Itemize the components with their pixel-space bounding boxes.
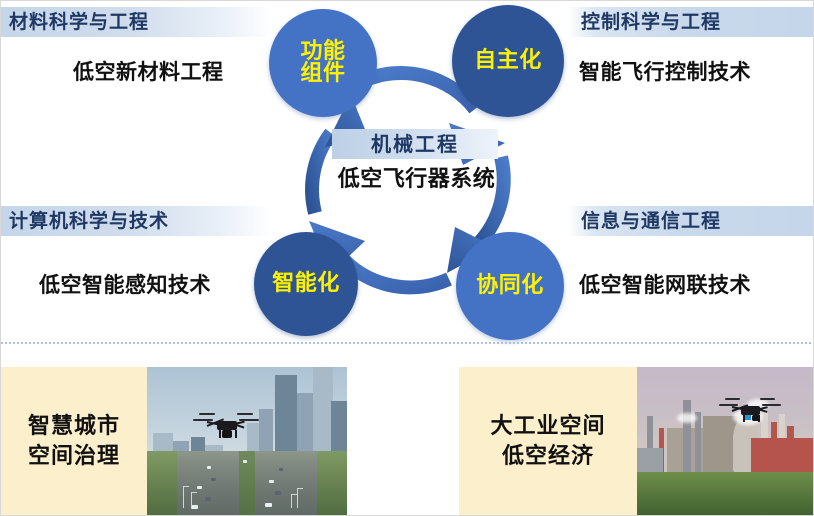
application-label-industrial-space: 大工业空间 低空经济 — [459, 367, 637, 516]
center-subject-label: 低空飞行器系统 — [319, 161, 514, 193]
discipline-wheel-area: 材料科学与工程 控制科学与工程 计算机科学与技术 信息与通信工程 低空新材料工程… — [1, 1, 814, 344]
discipline-band-control: 控制科学与工程 — [567, 7, 814, 37]
lobe-intelligence-label: 智能化 — [272, 273, 340, 295]
application-label-smart-city-line2: 空间治理 — [28, 442, 120, 472]
discipline-band-materials: 材料科学与工程 — [1, 7, 273, 37]
drone-icon-industrial — [719, 397, 781, 425]
discipline-band-comms: 信息与通信工程 — [567, 206, 814, 236]
application-label-smart-city: 智慧城市 空间治理 — [1, 367, 147, 516]
technology-label-materials: 低空新材料工程 — [73, 56, 224, 86]
application-card-industrial-space[interactable]: 大工业空间 低空经济 — [459, 367, 814, 516]
lobe-collaboration-label: 协同化 — [476, 275, 544, 297]
technology-label-computer: 低空智能感知技术 — [39, 269, 211, 299]
lobe-function-component[interactable]: 功能 组件 — [269, 9, 377, 117]
discipline-band-computer: 计算机科学与技术 — [1, 206, 273, 236]
application-label-industrial-space-line1: 大工业空间 — [490, 412, 605, 442]
lobe-intelligence[interactable]: 智能化 — [254, 232, 358, 336]
lobe-function-component-line1: 功能 — [300, 41, 345, 63]
technology-label-comms: 低空智能网联技术 — [579, 269, 751, 299]
lobe-collaboration[interactable]: 协同化 — [456, 232, 564, 340]
drone-icon-city — [193, 411, 259, 441]
section-divider — [1, 342, 814, 344]
center-discipline-band: 机械工程 — [332, 129, 498, 159]
application-photo-industrial-space — [637, 367, 814, 516]
application-card-smart-city[interactable]: 智慧城市 空间治理 — [1, 367, 347, 516]
application-area: 智慧城市 空间治理 — [1, 367, 814, 516]
lobe-autonomy-label: 自主化 — [474, 50, 542, 72]
figure-root: 材料科学与工程 控制科学与工程 计算机科学与技术 信息与通信工程 低空新材料工程… — [0, 0, 814, 516]
application-label-industrial-space-line2: 低空经济 — [502, 442, 594, 472]
lobe-function-component-line2: 组件 — [300, 63, 345, 85]
application-photo-smart-city — [147, 367, 347, 516]
lobe-autonomy[interactable]: 自主化 — [452, 5, 564, 117]
application-label-smart-city-line1: 智慧城市 — [28, 412, 120, 442]
technology-label-control: 智能飞行控制技术 — [579, 56, 751, 86]
